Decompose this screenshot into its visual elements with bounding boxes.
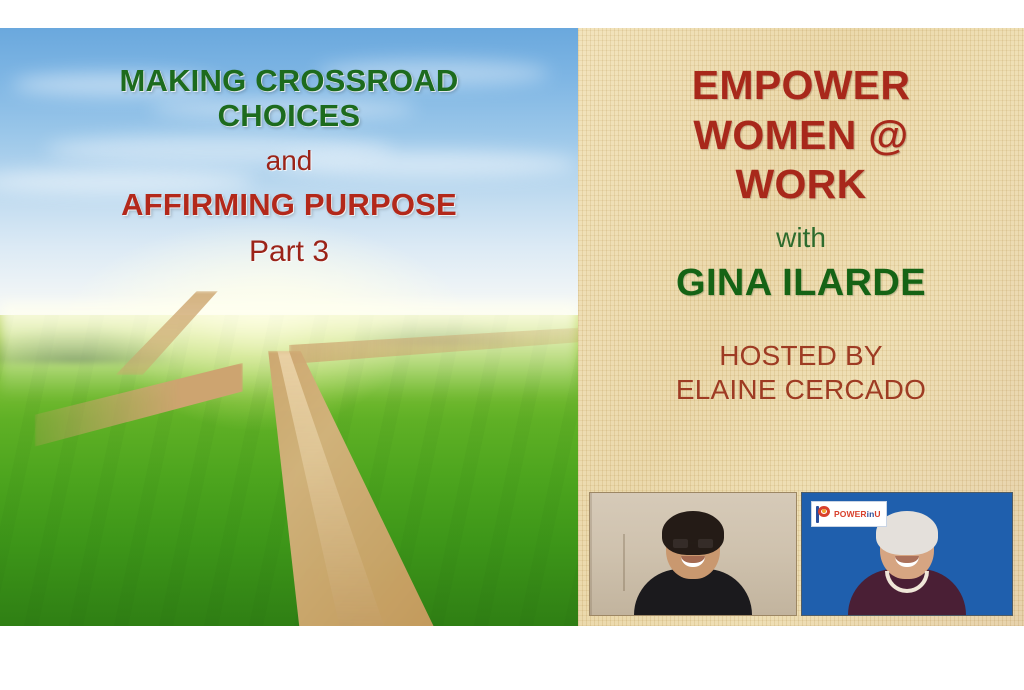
video-thumbnail-strip: POWERinU — [589, 492, 1013, 616]
screenshot-root: MAKING CROSSROAD CHOICES and AFFIRMING P… — [0, 0, 1024, 690]
left-title-block: MAKING CROSSROAD CHOICES and AFFIRMING P… — [0, 28, 578, 626]
left-landscape-panel: MAKING CROSSROAD CHOICES and AFFIRMING P… — [0, 28, 578, 626]
powerinu-p-icon — [815, 505, 831, 523]
with-label: with — [776, 223, 826, 254]
episode-banner-image: MAKING CROSSROAD CHOICES and AFFIRMING P… — [0, 28, 1024, 626]
show-title-line-1: EMPOWER — [692, 62, 911, 110]
hosted-by-line-2: ELAINE CERCADO — [676, 373, 926, 407]
title-line-1: MAKING CROSSROAD — [119, 64, 458, 99]
title-connector: and — [266, 146, 313, 177]
title-line-2: CHOICES — [218, 99, 361, 134]
show-title-line-2: WOMEN @ — [693, 112, 908, 160]
part-label: Part 3 — [249, 235, 329, 268]
video-thumbnail-guest[interactable] — [589, 492, 797, 616]
powerinu-logo-text: POWERinU — [834, 510, 881, 519]
powerinu-logo: POWERinU — [811, 501, 887, 527]
logo-text-u: U — [874, 509, 880, 519]
glasses-icon — [672, 538, 714, 549]
logo-text-power: POWER — [834, 509, 867, 519]
hosted-by-line-1: HOSTED BY — [719, 339, 883, 373]
right-parchment-panel: EMPOWER WOMEN @ WORK with GINA ILARDE HO… — [578, 28, 1024, 626]
show-title-line-3: WORK — [735, 161, 866, 209]
guest-name: GINA ILARDE — [676, 263, 926, 305]
video-thumbnail-host[interactable]: POWERinU — [801, 492, 1013, 616]
title-line-3: AFFIRMING PURPOSE — [121, 188, 457, 223]
